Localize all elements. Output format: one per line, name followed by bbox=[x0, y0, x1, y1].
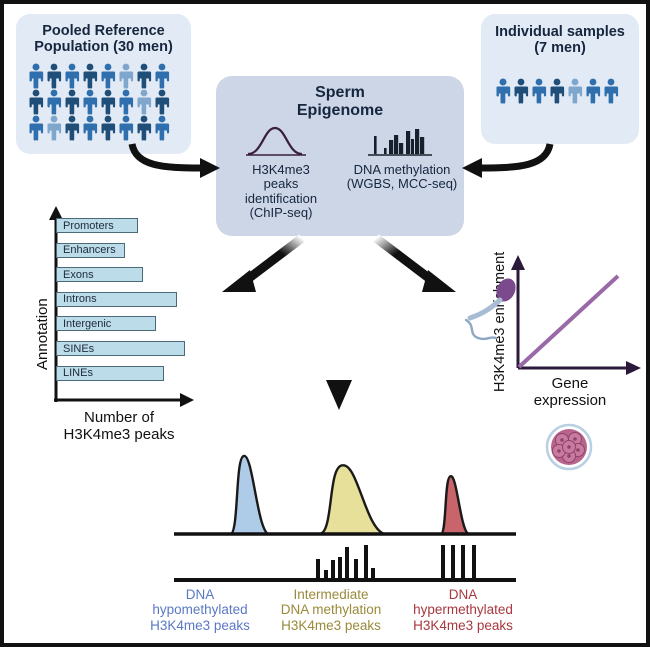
caption-hypermethylated: DNA hypermethylated H3K4me3 peaks bbox=[399, 587, 527, 633]
arrow-down-right-icon bbox=[362, 234, 462, 304]
arrow-down-icon bbox=[324, 234, 354, 414]
bar-chart-x-axis bbox=[54, 392, 194, 408]
bar-chart-y-axis-label: Annotation bbox=[34, 298, 51, 370]
caption-intermediate-line3: H3K4me3 peaks bbox=[267, 618, 395, 633]
methylation-distribution-plot bbox=[164, 446, 524, 586]
rug-tick bbox=[364, 545, 368, 578]
chipseq-panel: H3K4me3 peaks identification (ChIP-seq) bbox=[222, 124, 340, 220]
rug-tick bbox=[316, 559, 320, 578]
sperm-epigenome-title: Sperm Epigenome bbox=[216, 76, 464, 120]
bar-chart-x-axis-label-line2: H3K4me3 peaks bbox=[44, 427, 194, 444]
dna-methylation-label-line2: (WGBS, MCC-seq) bbox=[342, 177, 462, 191]
caption-hypermethylated-line1: DNA bbox=[399, 587, 527, 602]
bar-chart-bars: PromotersEnhancersExonsIntronsIntergenic… bbox=[56, 218, 201, 393]
caption-intermediate-line1: Intermediate bbox=[267, 587, 395, 602]
peak-curve-icon bbox=[244, 124, 318, 158]
line-chart-x-axis-label-line2: expression bbox=[510, 393, 630, 410]
bar-promoters: Promoters bbox=[56, 218, 138, 233]
dna-methylation-panel: DNA methylation (WGBS, MCC-seq) bbox=[342, 124, 462, 192]
individual-people-group bbox=[495, 78, 625, 106]
caption-hypomethylated: DNA hypomethylated H3K4me3 peaks bbox=[140, 587, 260, 633]
pooled-reference-title-line1: Pooled Reference bbox=[16, 23, 191, 39]
bar-label-enhancers: Enhancers bbox=[63, 244, 116, 256]
bar-sines: SINEs bbox=[56, 341, 185, 356]
arrow-pooled-to-center bbox=[122, 130, 226, 190]
rug-tick bbox=[338, 557, 342, 578]
bar-introns: Introns bbox=[56, 292, 177, 307]
bar-enhancers: Enhancers bbox=[56, 243, 125, 258]
rug-tick bbox=[441, 545, 445, 578]
dna-methylation-label-line1: DNA methylation bbox=[342, 163, 462, 177]
arrow-down-left-icon bbox=[216, 234, 316, 304]
bar-label-promoters: Promoters bbox=[63, 220, 114, 232]
line-chart-x-axis-label-line1: Gene bbox=[510, 376, 630, 393]
pooled-reference-title: Pooled Reference Population (30 men) bbox=[16, 14, 191, 55]
individual-samples-title: Individual samples (7 men) bbox=[481, 14, 639, 56]
individual-samples-title-line2: (7 men) bbox=[481, 40, 639, 56]
dna-methylation-label: DNA methylation (WGBS, MCC-seq) bbox=[342, 163, 462, 192]
caption-hypomethylated-line1: DNA bbox=[140, 587, 260, 602]
arrow-individual-to-center bbox=[456, 130, 560, 190]
individual-samples-box: Individual samples (7 men) bbox=[481, 14, 639, 144]
bar-label-introns: Introns bbox=[63, 293, 97, 305]
distribution-curve bbox=[230, 456, 268, 534]
sperm-epigenome-title-line2: Epigenome bbox=[216, 102, 464, 120]
bar-lines: LINEs bbox=[56, 366, 164, 381]
chipseq-label-line2: peaks bbox=[222, 177, 340, 191]
sperm-icon bbox=[462, 276, 524, 348]
chipseq-label-line3: identification bbox=[222, 192, 340, 206]
bar-label-lines: LINEs bbox=[63, 367, 93, 379]
bar-chart-x-axis-label: Number of H3K4me3 peaks bbox=[44, 410, 194, 444]
caption-intermediate: Intermediate DNA methylation H3K4me3 pea… bbox=[267, 587, 395, 633]
bar-chart-x-axis-label-line1: Number of bbox=[44, 410, 194, 427]
line-chart-plot bbox=[506, 252, 646, 377]
distribution-curve bbox=[441, 476, 468, 534]
line-chart-x-axis-label: Gene expression bbox=[510, 376, 630, 410]
chipseq-label-line1: H3K4me3 bbox=[222, 163, 340, 177]
chipseq-label-line4: (ChIP-seq) bbox=[222, 206, 340, 220]
rug-tick bbox=[371, 568, 375, 578]
rug-tick bbox=[451, 545, 455, 578]
people-group-icon bbox=[496, 78, 624, 106]
chipseq-label: H3K4me3 peaks identification (ChIP-seq) bbox=[222, 163, 340, 220]
distribution-curves bbox=[164, 446, 524, 538]
bar-label-exons: Exons bbox=[63, 269, 94, 281]
distribution-rug-ticks bbox=[164, 542, 524, 584]
embryo-cell-icon bbox=[544, 422, 594, 472]
histogram-icon bbox=[364, 124, 440, 158]
individual-samples-title-line1: Individual samples bbox=[481, 24, 639, 40]
rug-tick bbox=[461, 545, 465, 578]
annotation-bar-chart: Annotation Number of H3K4me3 peaks Promo… bbox=[12, 202, 202, 452]
caption-hypermethylated-line2: hypermethylated bbox=[399, 602, 527, 617]
rug-tick bbox=[472, 545, 476, 578]
sperm-epigenome-title-line1: Sperm bbox=[216, 84, 464, 102]
figure-frame: Pooled Reference Population (30 men) bbox=[0, 0, 650, 647]
rug-tick bbox=[331, 560, 335, 578]
caption-hypomethylated-line3: H3K4me3 peaks bbox=[140, 618, 260, 633]
rug-tick bbox=[354, 559, 358, 578]
bar-intergenic: Intergenic bbox=[56, 316, 156, 331]
distribution-curve bbox=[319, 465, 384, 534]
caption-hypermethylated-line3: H3K4me3 peaks bbox=[399, 618, 527, 633]
bar-exons: Exons bbox=[56, 267, 143, 282]
bar-label-sines: SINEs bbox=[63, 343, 94, 355]
caption-hypomethylated-line2: hypomethylated bbox=[140, 602, 260, 617]
rug-tick bbox=[324, 570, 328, 578]
caption-intermediate-line2: DNA methylation bbox=[267, 602, 395, 617]
bar-label-intergenic: Intergenic bbox=[63, 318, 111, 330]
sperm-epigenome-box: Sperm Epigenome H3K4me3 peaks identifica… bbox=[216, 76, 464, 236]
rug-tick bbox=[345, 547, 349, 578]
pooled-reference-title-line2: Population (30 men) bbox=[16, 39, 191, 55]
